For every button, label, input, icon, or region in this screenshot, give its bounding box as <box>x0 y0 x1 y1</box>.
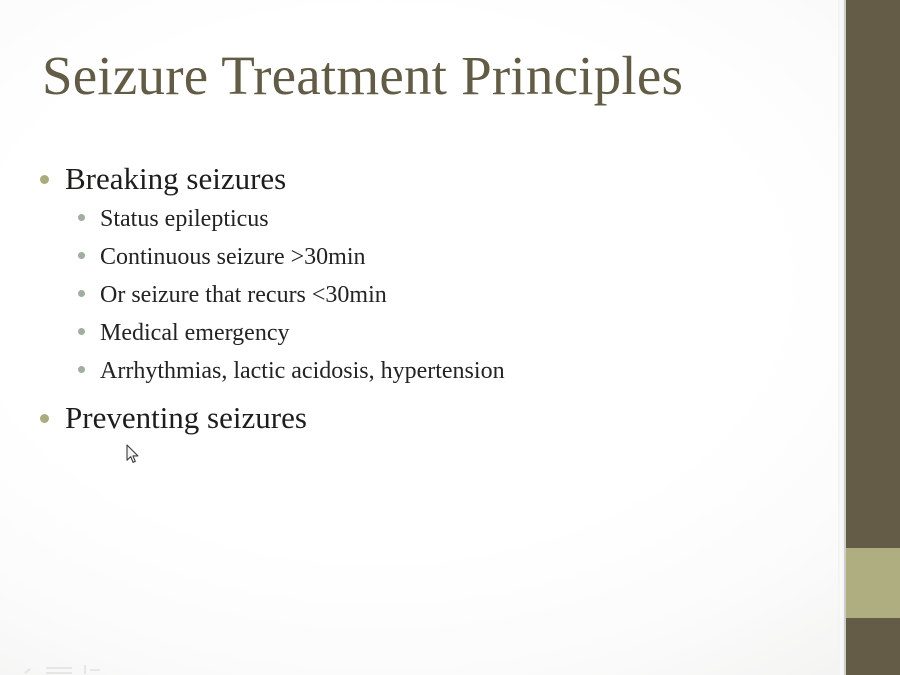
dot-bullet-icon <box>40 175 49 184</box>
dot-bullet-icon <box>40 414 49 423</box>
list-item: Medical emergency <box>40 315 800 352</box>
bottom-left-clipped-artifact <box>24 663 104 675</box>
list-item: Arrhythmias, lactic acidosis, hypertensi… <box>40 353 800 390</box>
dot-bullet-icon <box>78 252 85 259</box>
list-item: Status epilepticus <box>40 201 800 238</box>
dot-bullet-icon <box>78 214 85 221</box>
list-item: Preventing seizures <box>40 397 800 438</box>
list-item-label: Preventing seizures <box>65 397 307 438</box>
list-item-label: Arrhythmias, lactic acidosis, hypertensi… <box>100 353 505 390</box>
list-item-label: Or seizure that recurs <30min <box>100 277 387 314</box>
dot-bullet-icon <box>78 328 85 335</box>
dot-bullet-icon <box>78 290 85 297</box>
slide-sidebar-decoration <box>846 0 900 675</box>
list-item: Continuous seizure >30min <box>40 239 800 276</box>
list-item-label: Continuous seizure >30min <box>100 239 366 276</box>
mouse-cursor-icon <box>126 444 140 464</box>
dot-bullet-icon <box>78 366 85 373</box>
list-item-label: Status epilepticus <box>100 201 269 238</box>
list-item: Breaking seizures <box>40 158 800 199</box>
sidebar-segment-lower-dark <box>846 618 900 675</box>
slide-body-list: Breaking seizures Status epilepticus Con… <box>40 158 800 440</box>
sidebar-segment-middle-khaki <box>846 548 900 618</box>
list-item-label: Medical emergency <box>100 315 289 352</box>
list-item-label: Breaking seizures <box>65 158 286 199</box>
presentation-slide: Seizure Treatment Principles Breaking se… <box>0 0 900 675</box>
list-item: Or seizure that recurs <30min <box>40 277 800 314</box>
sidebar-segment-upper-dark <box>846 0 900 548</box>
slide-title: Seizure Treatment Principles <box>42 47 683 105</box>
